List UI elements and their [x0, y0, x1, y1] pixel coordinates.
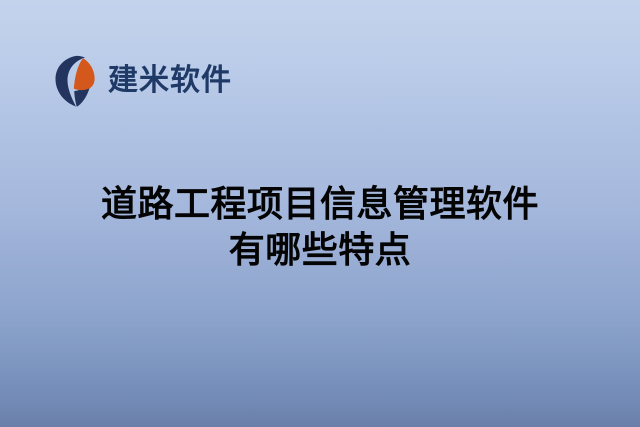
promo-banner: 建米软件 道路工程项目信息管理软件 有哪些特点: [0, 0, 640, 427]
page-title: 道路工程项目信息管理软件 有哪些特点: [0, 182, 640, 274]
jianmi-leaf-logo-icon: [54, 55, 100, 107]
brand-logo: 建米软件: [54, 55, 232, 107]
brand-name-text: 建米软件: [108, 66, 232, 96]
page-title-line-2: 有哪些特点: [0, 228, 640, 274]
page-title-line-1: 道路工程项目信息管理软件: [0, 182, 640, 228]
